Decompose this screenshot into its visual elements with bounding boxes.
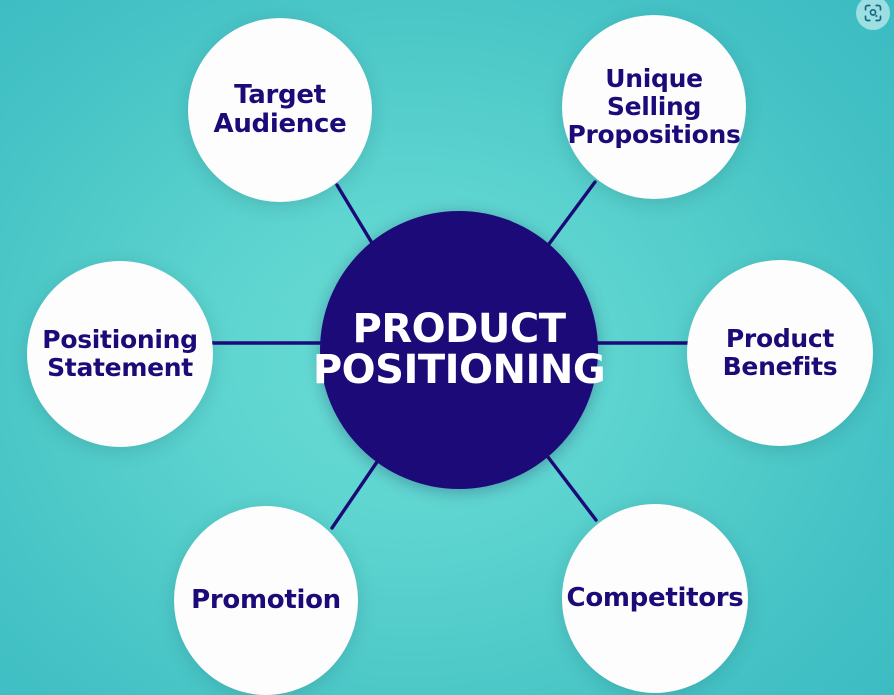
node-target-audience[interactable]: Target Audience [188, 18, 372, 202]
node-product-benefits[interactable]: Product Benefits [687, 260, 873, 446]
node-unique-selling-propositions[interactable]: Unique Selling Propositions [562, 15, 746, 199]
node-label-product-benefits: Product Benefits [713, 325, 848, 381]
node-label-unique-selling-propositions: Unique Selling Propositions [557, 65, 750, 149]
connector-competitors [548, 457, 596, 520]
hub-circle[interactable]: PRODUCT POSITIONING [320, 211, 598, 489]
hub-label: PRODUCT POSITIONING [307, 309, 611, 391]
node-label-competitors: Competitors [557, 584, 754, 613]
diagram-canvas: PRODUCT POSITIONING Target Audience Uniq… [0, 0, 894, 695]
node-label-target-audience: Target Audience [204, 81, 357, 139]
connector-promotion [332, 459, 379, 528]
node-label-promotion: Promotion [181, 586, 351, 615]
node-competitors[interactable]: Competitors [562, 504, 748, 693]
node-promotion[interactable]: Promotion [174, 506, 358, 695]
lens-scan-icon [863, 3, 883, 23]
node-label-positioning-statement: Positioning Statement [32, 326, 207, 382]
connector-usp [549, 182, 595, 244]
connector-target-audience [337, 185, 375, 248]
node-positioning-statement[interactable]: Positioning Statement [27, 261, 213, 447]
